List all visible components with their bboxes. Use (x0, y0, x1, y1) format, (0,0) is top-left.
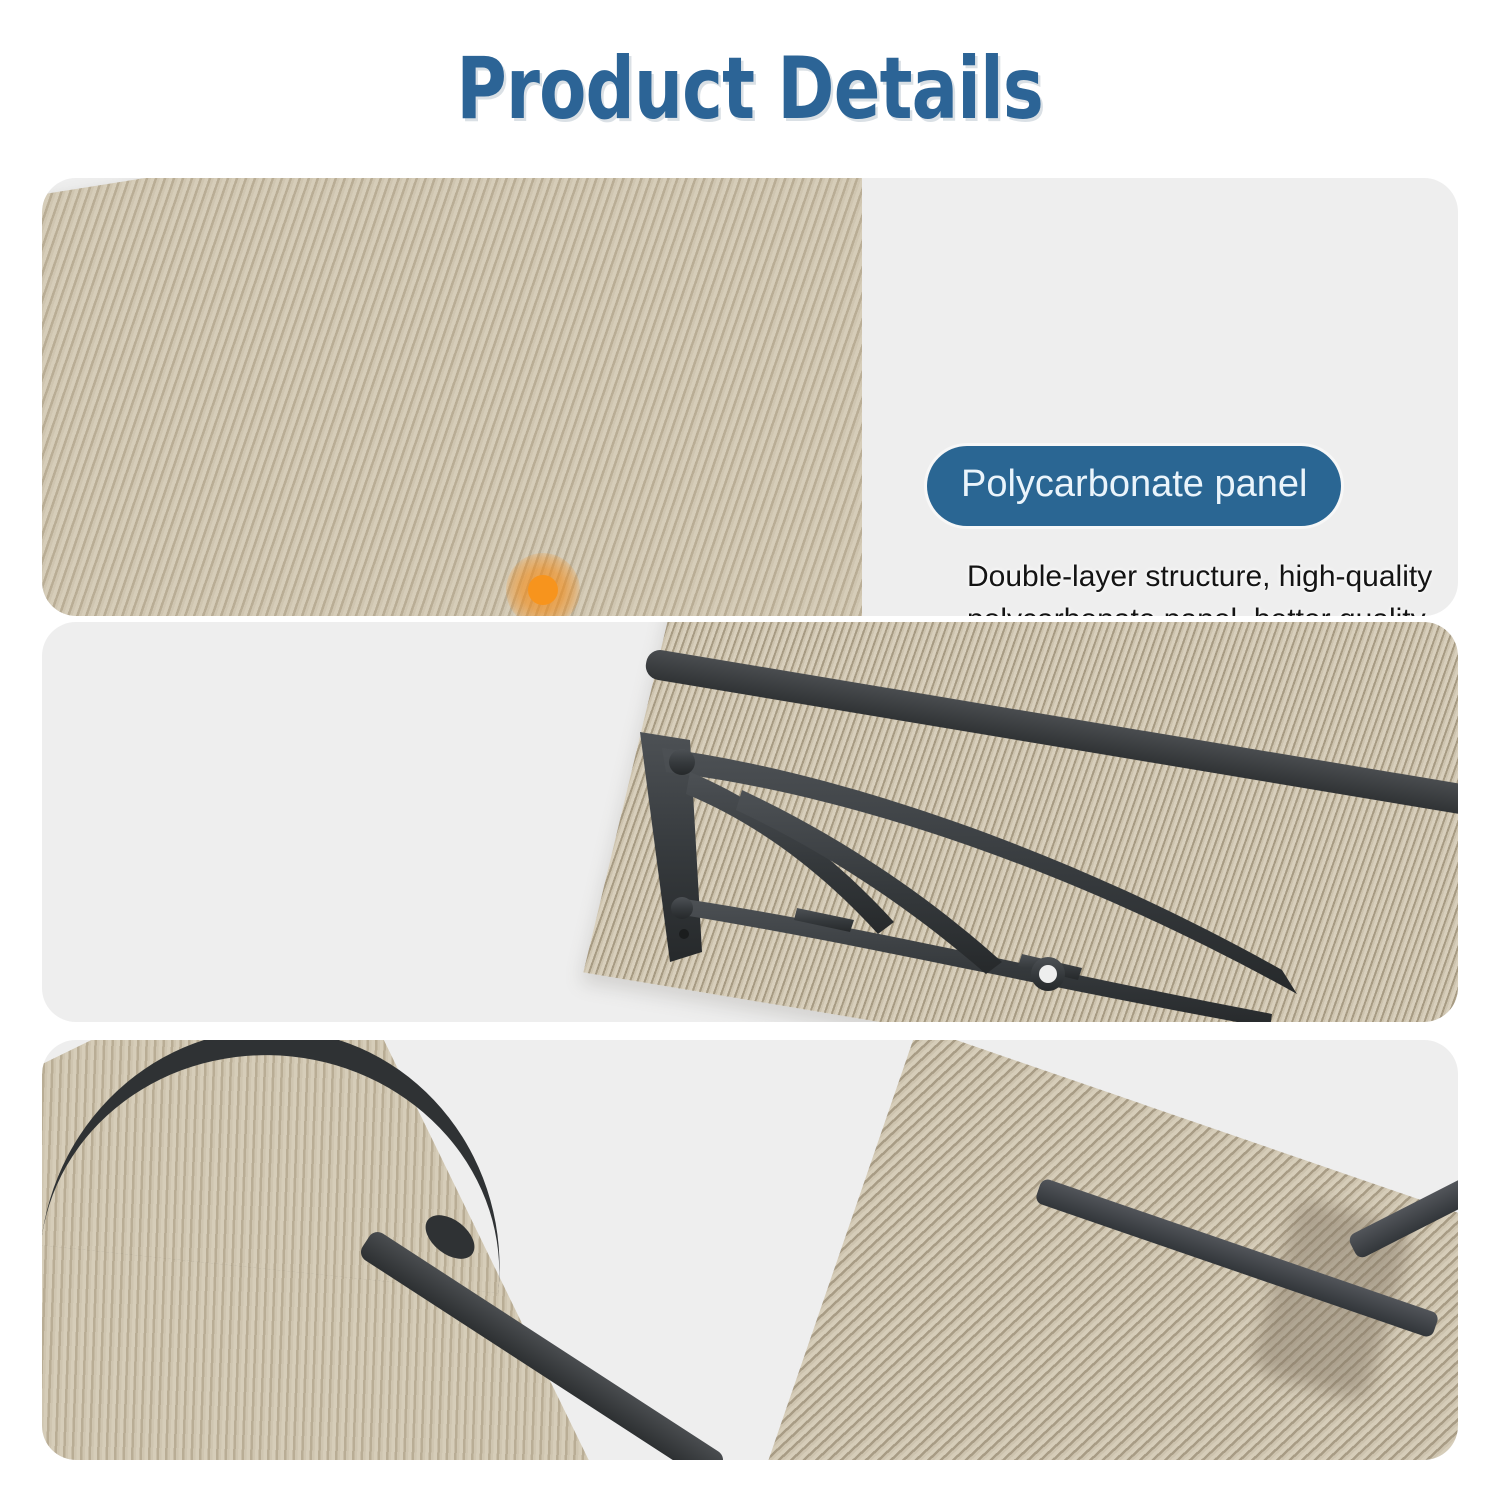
feature-card-aluminum-alloy-strip: Aluminum alloy strip Front and rear alum… (42, 1040, 1458, 1460)
side-aluminum-alloy-strip (1347, 1146, 1458, 1260)
page-title: Product Details (457, 39, 1044, 139)
feature-card-polycarbonate-panel: Polycarbonate panel Double-layer structu… (42, 178, 1458, 616)
strip-end-cap (417, 1206, 482, 1267)
canopy-image-clip (42, 622, 1458, 1022)
product-details-page: Product Details Polycarbonate panel Doub… (0, 0, 1500, 1500)
canopy-front-edge-strip (644, 648, 1458, 826)
description-polycarbonate-panel: Double-layer structure, high-quality pol… (967, 556, 1458, 616)
curved-aluminum-strip (42, 1040, 523, 1293)
front-aluminum-alloy-strip (1034, 1177, 1440, 1338)
aluminum-strip-illustration (42, 1040, 1458, 1460)
polycarbonate-panel-sheet (42, 178, 862, 616)
strip-image-clip (42, 1040, 1458, 1460)
blurred-background-bracket (1250, 1197, 1415, 1403)
abs-bracket-illustration (42, 622, 1458, 1022)
feature-card-abs-bracket: ABS bracket ABS bracket, impact resistan… (42, 622, 1458, 1022)
abs-bracket-svg (42, 622, 1458, 1022)
badge-polycarbonate-panel[interactable]: Polycarbonate panel (927, 446, 1341, 526)
lower-aluminum-strip (357, 1228, 727, 1460)
right-panel-corner (735, 1040, 1458, 1460)
feature-hotspot-panel[interactable] (506, 553, 580, 616)
left-panel-corner (42, 1040, 599, 1460)
canopy-panel-sheet (583, 622, 1458, 1022)
panel-image-clip (42, 178, 862, 616)
polycarbonate-panel-illustration (42, 178, 1458, 616)
page-header: Product Details (0, 0, 1500, 178)
hotspot-dot (528, 575, 558, 605)
